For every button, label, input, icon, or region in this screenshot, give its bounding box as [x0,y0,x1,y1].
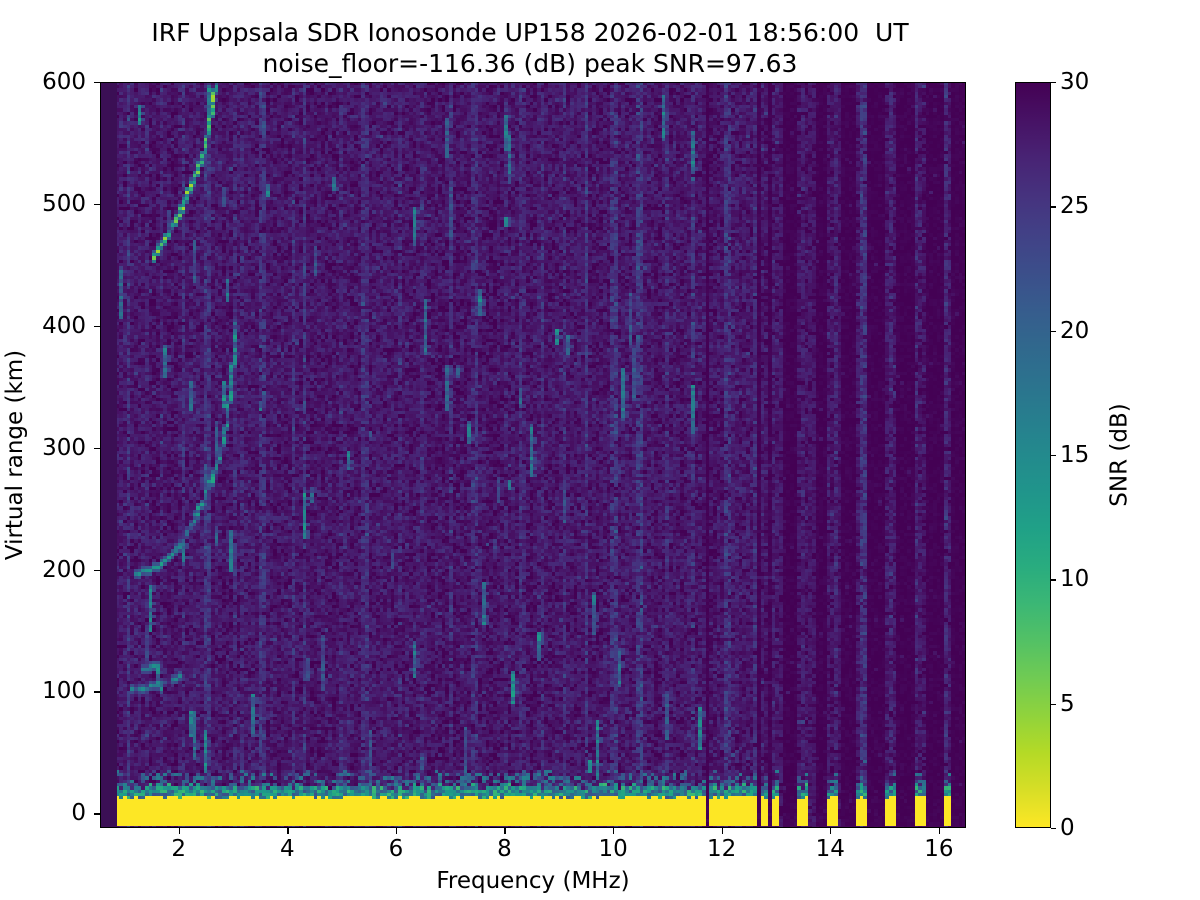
y-tick-label: 300 [42,435,86,461]
y-tick-label: 500 [42,191,86,217]
colorbar-tick-label: 5 [1060,691,1075,717]
x-axis-label: Frequency (MHz) [100,868,966,894]
x-tick [179,828,180,834]
colorbar-label-text: SNR (dB) [1107,403,1133,506]
y-tick-label: 200 [42,557,86,583]
colorbar-tick [1051,82,1056,83]
y-tick [94,82,100,83]
colorbar-tick [1051,579,1056,580]
y-tick-label: 0 [71,800,86,826]
x-tick [830,828,831,834]
x-tick [287,828,288,834]
y-tick [94,204,100,205]
colorbar-tick [1051,206,1056,207]
colorbar-tick [1051,828,1056,829]
x-tick [939,828,940,834]
x-tick [613,828,614,834]
colorbar-gradient [1016,83,1050,827]
ionogram-figure: IRF Uppsala SDR Ionosonde UP158 2026-02-… [0,0,1200,900]
x-tick [504,828,505,834]
x-tick-label: 12 [707,836,736,862]
snr-colorbar[interactable] [1015,82,1051,828]
colorbar-tick-label: 20 [1060,318,1089,344]
title-line-1: IRF Uppsala SDR Ionosonde UP158 2026-02-… [0,18,1060,49]
colorbar-tick-label: 30 [1060,69,1089,95]
colorbar-tick-label: 0 [1060,815,1075,841]
y-axis-label-text: Virtual range (km) [2,350,28,560]
y-tick-label: 600 [42,69,86,95]
y-tick-label: 100 [42,678,86,704]
y-axis-label: Virtual range (km) [0,82,30,828]
colorbar-label: SNR (dB) [1100,82,1140,828]
x-tick-label: 8 [497,836,512,862]
figure-title: IRF Uppsala SDR Ionosonde UP158 2026-02-… [0,18,1060,79]
colorbar-tick [1051,331,1056,332]
ionogram-plot-area[interactable] [100,82,966,828]
x-tick-label: 16 [924,836,953,862]
y-tick [94,326,100,327]
colorbar-tick-label: 25 [1060,193,1089,219]
ionogram-heatmap[interactable] [101,83,966,828]
x-tick-label: 2 [171,836,186,862]
x-tick [396,828,397,834]
x-tick-label: 14 [816,836,845,862]
x-tick-label: 6 [389,836,404,862]
colorbar-tick-label: 10 [1060,566,1089,592]
x-tick-label: 10 [598,836,627,862]
x-tick [722,828,723,834]
y-tick [94,448,100,449]
y-tick [94,813,100,814]
y-tick-label: 400 [42,313,86,339]
y-tick [94,570,100,571]
y-tick [94,691,100,692]
x-tick-label: 4 [280,836,295,862]
colorbar-tick-label: 15 [1060,442,1089,468]
colorbar-tick [1051,704,1056,705]
title-line-2: noise_floor=-116.36 (dB) peak SNR=97.63 [0,49,1060,80]
colorbar-tick [1051,455,1056,456]
